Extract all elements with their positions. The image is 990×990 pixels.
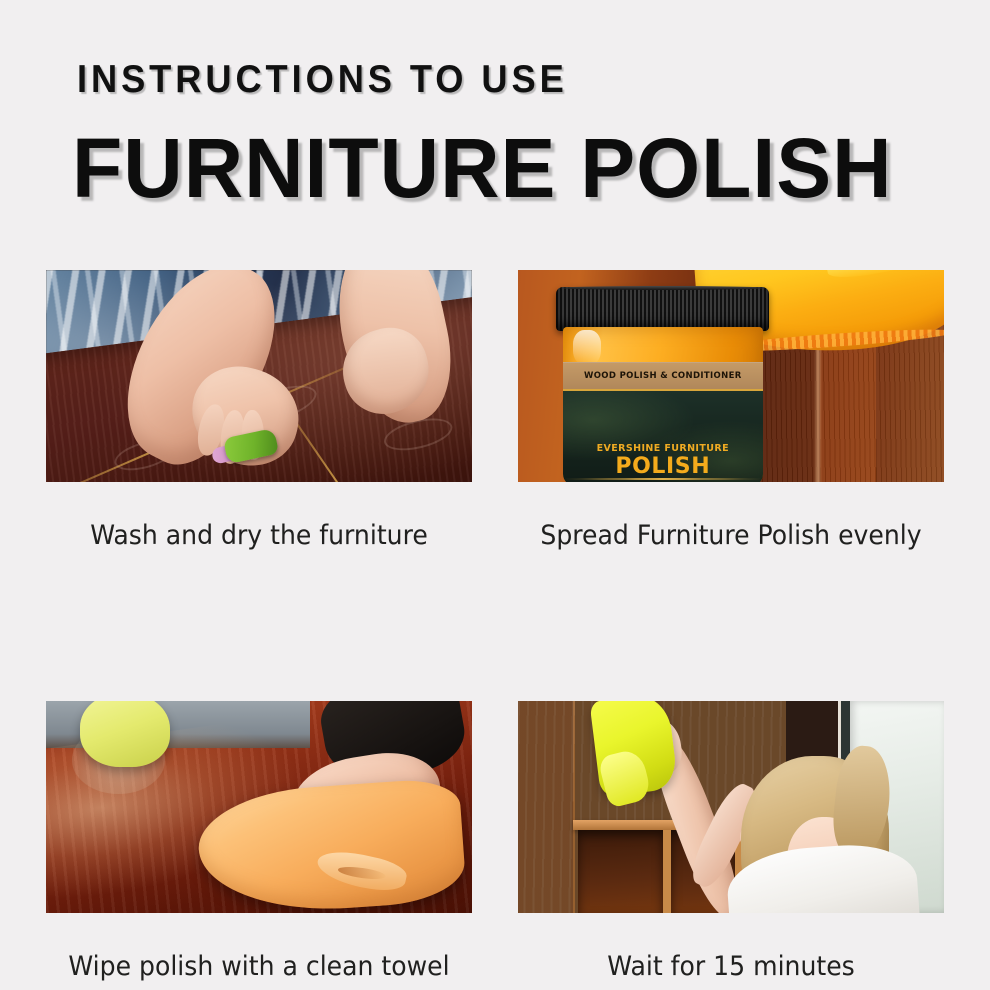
step-2: WOOD POLISH & CONDITIONER EVERSHINE FURN… <box>518 270 944 552</box>
polish-jar: WOOD POLISH & CONDITIONER EVERSHINE FURN… <box>556 287 769 482</box>
cabinet-divider <box>663 830 672 913</box>
step-4-caption: Wait for 15 minutes <box>533 951 929 983</box>
steps-grid: Wash and dry the furniture <box>46 270 944 983</box>
jar-body: WOOD POLISH & CONDITIONER EVERSHINE FURN… <box>563 327 763 482</box>
step-1-caption: Wash and dry the furniture <box>61 520 457 552</box>
product-name: POLISH <box>563 455 763 479</box>
instructions-poster: INSTRUCTIONS TO USE FURNITURE POLISH <box>0 0 990 990</box>
step-3: Wipe polish with a clean towel <box>46 701 472 983</box>
cloth-fold <box>825 270 944 283</box>
step-3-caption: Wipe polish with a clean towel <box>61 951 457 983</box>
product-tagline: WOOD POLISH & CONDITIONER <box>584 371 742 381</box>
jar-lid <box>556 287 769 331</box>
poster-title: FURNITURE POLISH <box>72 122 893 214</box>
step-4-photo <box>518 701 944 913</box>
steps-row-bottom: Wipe polish with a clean towel <box>46 701 944 983</box>
step-3-photo <box>46 701 472 913</box>
product-brand: EVERSHINE FURNITURE <box>563 443 763 454</box>
step-4: Wait for 15 minutes <box>518 701 944 983</box>
step-2-photo: WOOD POLISH & CONDITIONER EVERSHINE FURN… <box>518 270 944 482</box>
step-2-caption: Spread Furniture Polish evenly <box>533 520 929 552</box>
jar-lid-top <box>561 286 765 290</box>
product-label: EVERSHINE FURNITURE POLISH 150 g <box>563 389 763 482</box>
product-tagline-band: WOOD POLISH & CONDITIONER <box>563 362 763 390</box>
step-1: Wash and dry the furniture <box>46 270 472 552</box>
poster-kicker: INSTRUCTIONS TO USE <box>77 57 568 103</box>
step-1-photo <box>46 270 472 482</box>
cabinet-cubby <box>578 830 663 913</box>
yellow-sponge <box>80 701 170 767</box>
cabinet-side-panel <box>518 701 575 913</box>
steps-row-top: Wash and dry the furniture <box>46 270 944 552</box>
jar-gloss-highlight <box>573 330 601 365</box>
